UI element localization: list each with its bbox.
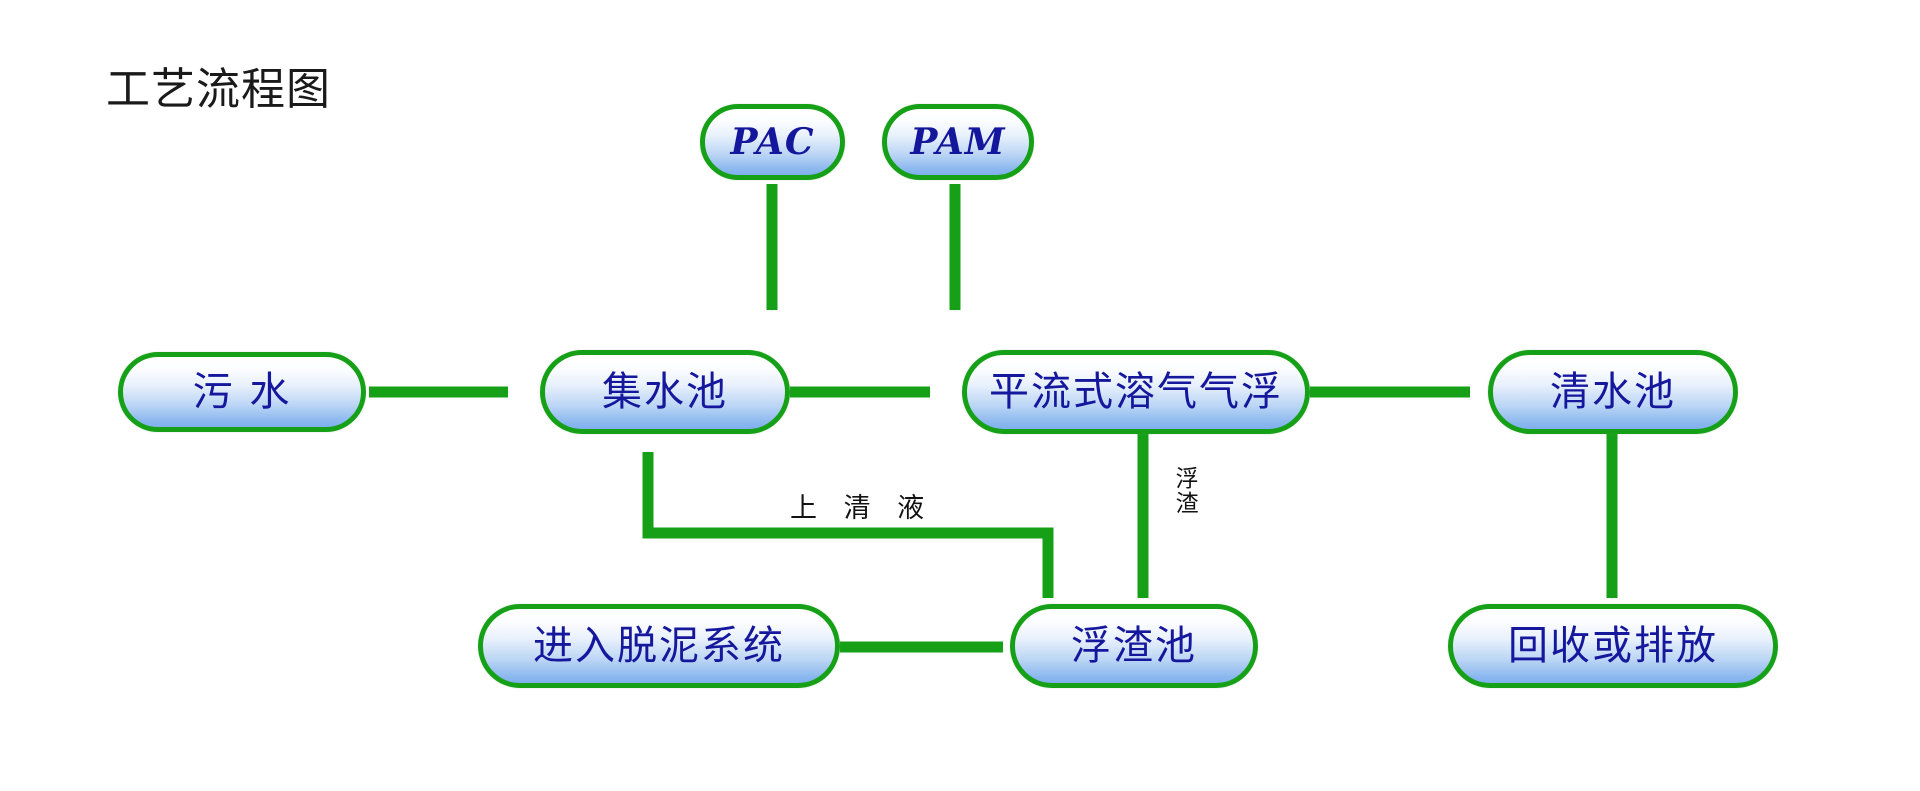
- node-sewage[interactable]: 污 水: [118, 352, 366, 432]
- edge-label-supernatant: 上 清 液: [790, 495, 933, 522]
- node-flotation[interactable]: 平流式溶气气浮: [962, 350, 1310, 434]
- node-reuse-or-discharge[interactable]: 回收或排放: [1448, 604, 1778, 688]
- edge-label-scum: 浮渣: [1172, 466, 1196, 516]
- node-collection-tank[interactable]: 集水池: [540, 350, 790, 434]
- node-pac-label: PAC: [730, 124, 814, 160]
- node-sewage-label: 污 水: [193, 372, 292, 412]
- node-clear-water-tank-label: 清水池: [1550, 372, 1676, 412]
- node-scum-tank-label: 浮渣池: [1071, 626, 1197, 666]
- page-title: 工艺流程图: [106, 68, 331, 112]
- node-pac[interactable]: PAC: [700, 104, 845, 180]
- edge-supernatant-return: [648, 452, 1048, 598]
- flowchart-canvas: 工艺流程图: [0, 0, 1920, 791]
- node-reuse-or-discharge-label: 回收或排放: [1508, 626, 1718, 666]
- node-sludge-system-label: 进入脱泥系统: [533, 626, 785, 666]
- node-collection-tank-label: 集水池: [602, 372, 728, 412]
- node-scum-tank[interactable]: 浮渣池: [1010, 604, 1258, 688]
- node-clear-water-tank[interactable]: 清水池: [1488, 350, 1738, 434]
- node-pam-label: PAM: [910, 124, 1005, 160]
- node-flotation-label: 平流式溶气气浮: [989, 372, 1283, 412]
- node-pam[interactable]: PAM: [882, 104, 1034, 180]
- node-sludge-system[interactable]: 进入脱泥系统: [478, 604, 840, 688]
